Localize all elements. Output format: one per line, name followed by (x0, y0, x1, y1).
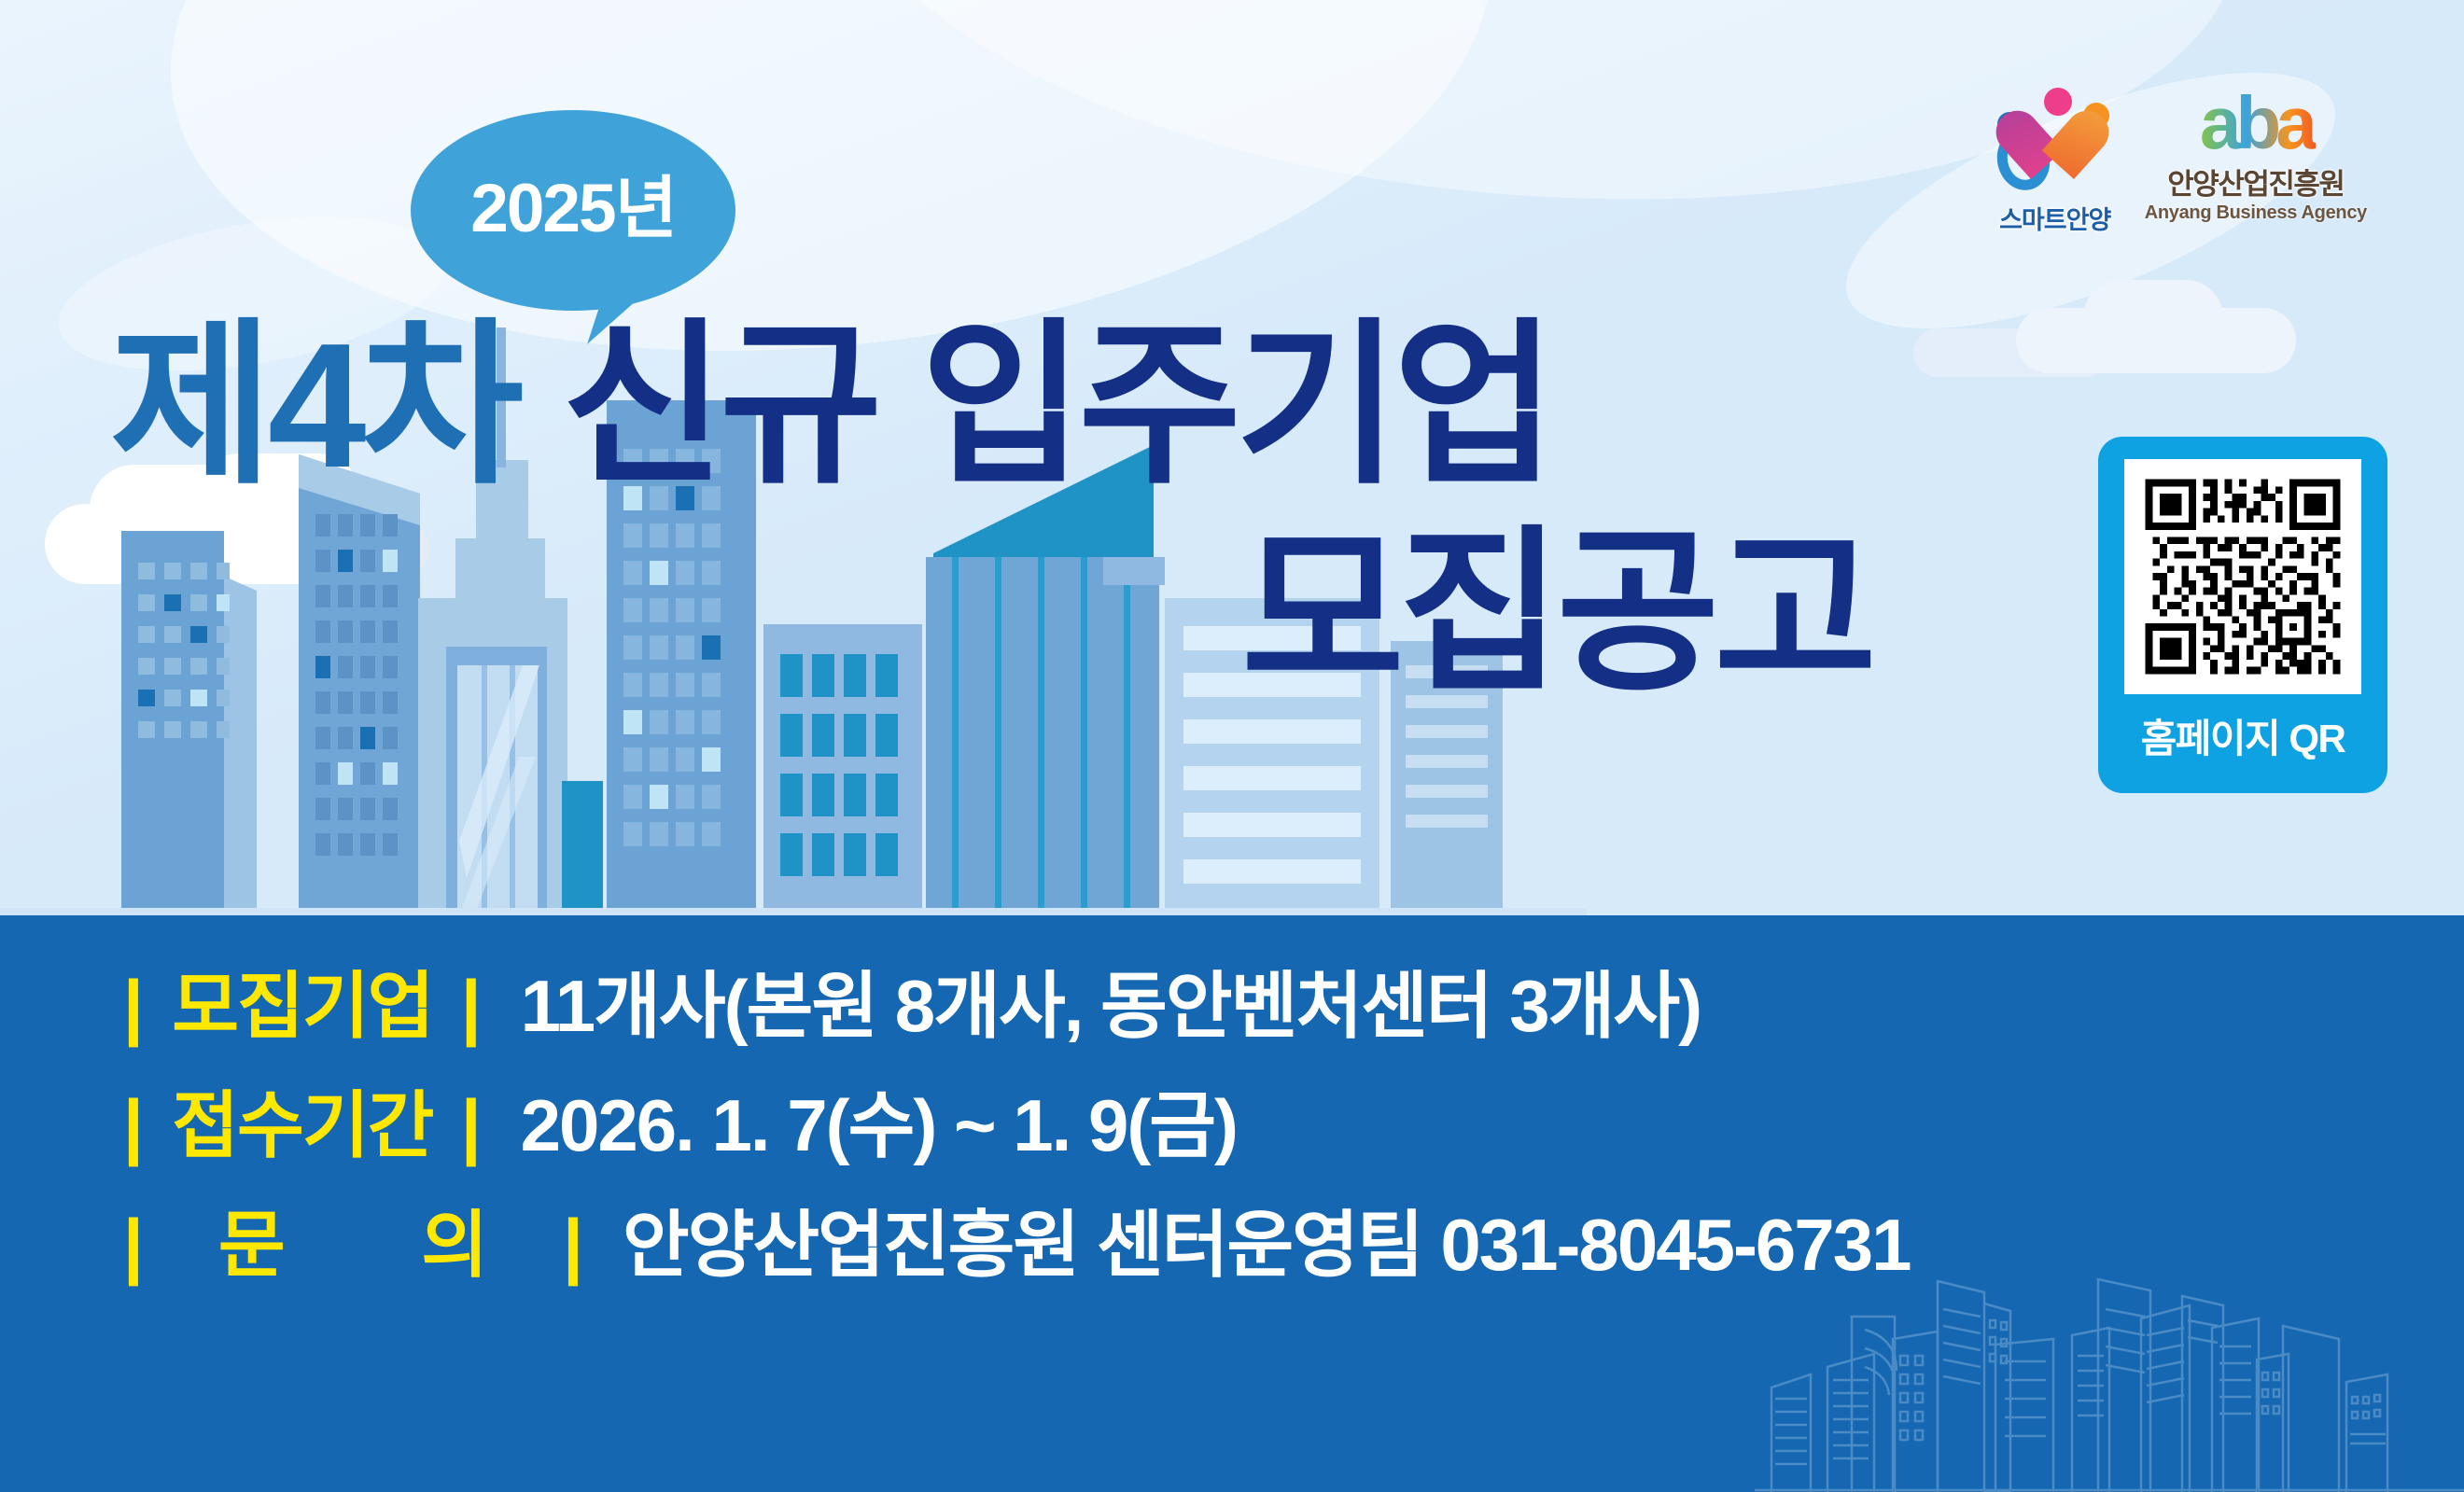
info-label-period: 접수기간 (144, 1089, 461, 1162)
qr-code-svg (2138, 472, 2347, 681)
info-row: | 접수기간 | 2026. 1. 7(수) ~ 1. 9(금) (123, 1089, 1910, 1208)
info-label-contact: 문 의 (144, 1208, 563, 1281)
year-badge-label: 2025년 (470, 174, 676, 243)
info-row-label-cell: | 문 의 | (123, 1208, 583, 1281)
info-row-label-cell: | 모집기업 | (123, 969, 482, 1042)
label-separator-left: | (123, 1208, 144, 1281)
cloud-icon (2083, 280, 2223, 355)
aba-logo-text-ko: 안양산업진흥원 (2167, 160, 2344, 202)
qr-card[interactable]: 홈페이지 QR (2098, 437, 2387, 793)
title-line-1: 제4차 신규 입주기업 (110, 317, 1551, 495)
info-label-recruitment: 모집기업 (144, 969, 461, 1042)
info-value-cell: 2026. 1. 7(수) ~ 1. 9(금) (521, 1089, 1237, 1162)
title-line-2: 모집공고 (1241, 524, 1871, 702)
info-row: | 문 의 | 안양산업진흥원 센터운영팀 031-8045-6731 (123, 1208, 1910, 1328)
label-separator-right: | (461, 1089, 482, 1162)
info-value-sub: (본원 8개사, 동안벤처센터 3개사) (724, 965, 1701, 1047)
qr-card-label: 홈페이지 QR (2141, 707, 2345, 764)
info-row: | 모집기업 | 11개사(본원 8개사, 동안벤처센터 3개사) (123, 969, 1910, 1089)
logo-group: 스마트안양 aba 안양산업진흥원 Anyang Business Agency (1994, 88, 2367, 236)
info-panel: | 모집기업 | 11개사(본원 8개사, 동안벤처센터 3개사) | 접수기간… (0, 915, 2464, 1492)
qr-code-image (2124, 459, 2361, 694)
label-separator-left: | (123, 1089, 144, 1162)
info-value-main: 안양산업진흥원 센터운영팀 031-8045-6731 (623, 1204, 1911, 1286)
label-separator-right: | (563, 1208, 583, 1281)
poster-root: 2025년 제4차 신규 입주기업 모집공고 스마트안양 (0, 0, 2464, 1492)
info-value-main: 11개사 (521, 965, 724, 1047)
smart-anyang-logo-text: 스마트안양 (1999, 200, 2110, 236)
label-separator-right: | (461, 969, 482, 1042)
info-value-cell: 안양산업진흥원 센터운영팀 031-8045-6731 (623, 1208, 1911, 1281)
info-value-main: 2026. 1. 7(수) ~ 1. 9(금) (521, 1084, 1237, 1166)
smart-anyang-mark-icon (1994, 88, 2117, 192)
aba-logo: aba 안양산업진흥원 Anyang Business Agency (2145, 88, 2367, 224)
header-section: 2025년 제4차 신규 입주기업 모집공고 스마트안양 (0, 0, 2464, 915)
aba-logo-text-en: Anyang Business Agency (2145, 202, 2367, 224)
info-row-label-cell: | 접수기간 | (123, 1089, 482, 1162)
label-separator-left: | (123, 969, 144, 1042)
info-row-list: | 모집기업 | 11개사(본원 8개사, 동안벤처센터 3개사) | 접수기간… (123, 969, 1910, 1328)
smart-anyang-logo: 스마트안양 (1994, 88, 2117, 236)
info-value-cell: 11개사(본원 8개사, 동안벤처센터 3개사) (521, 969, 1701, 1042)
title-part-subject: 신규 입주기업 (562, 307, 1551, 505)
aba-mark-icon: aba (2196, 88, 2316, 159)
title-part-edition: 제4차 (110, 307, 518, 505)
year-badge: 2025년 (411, 110, 735, 311)
